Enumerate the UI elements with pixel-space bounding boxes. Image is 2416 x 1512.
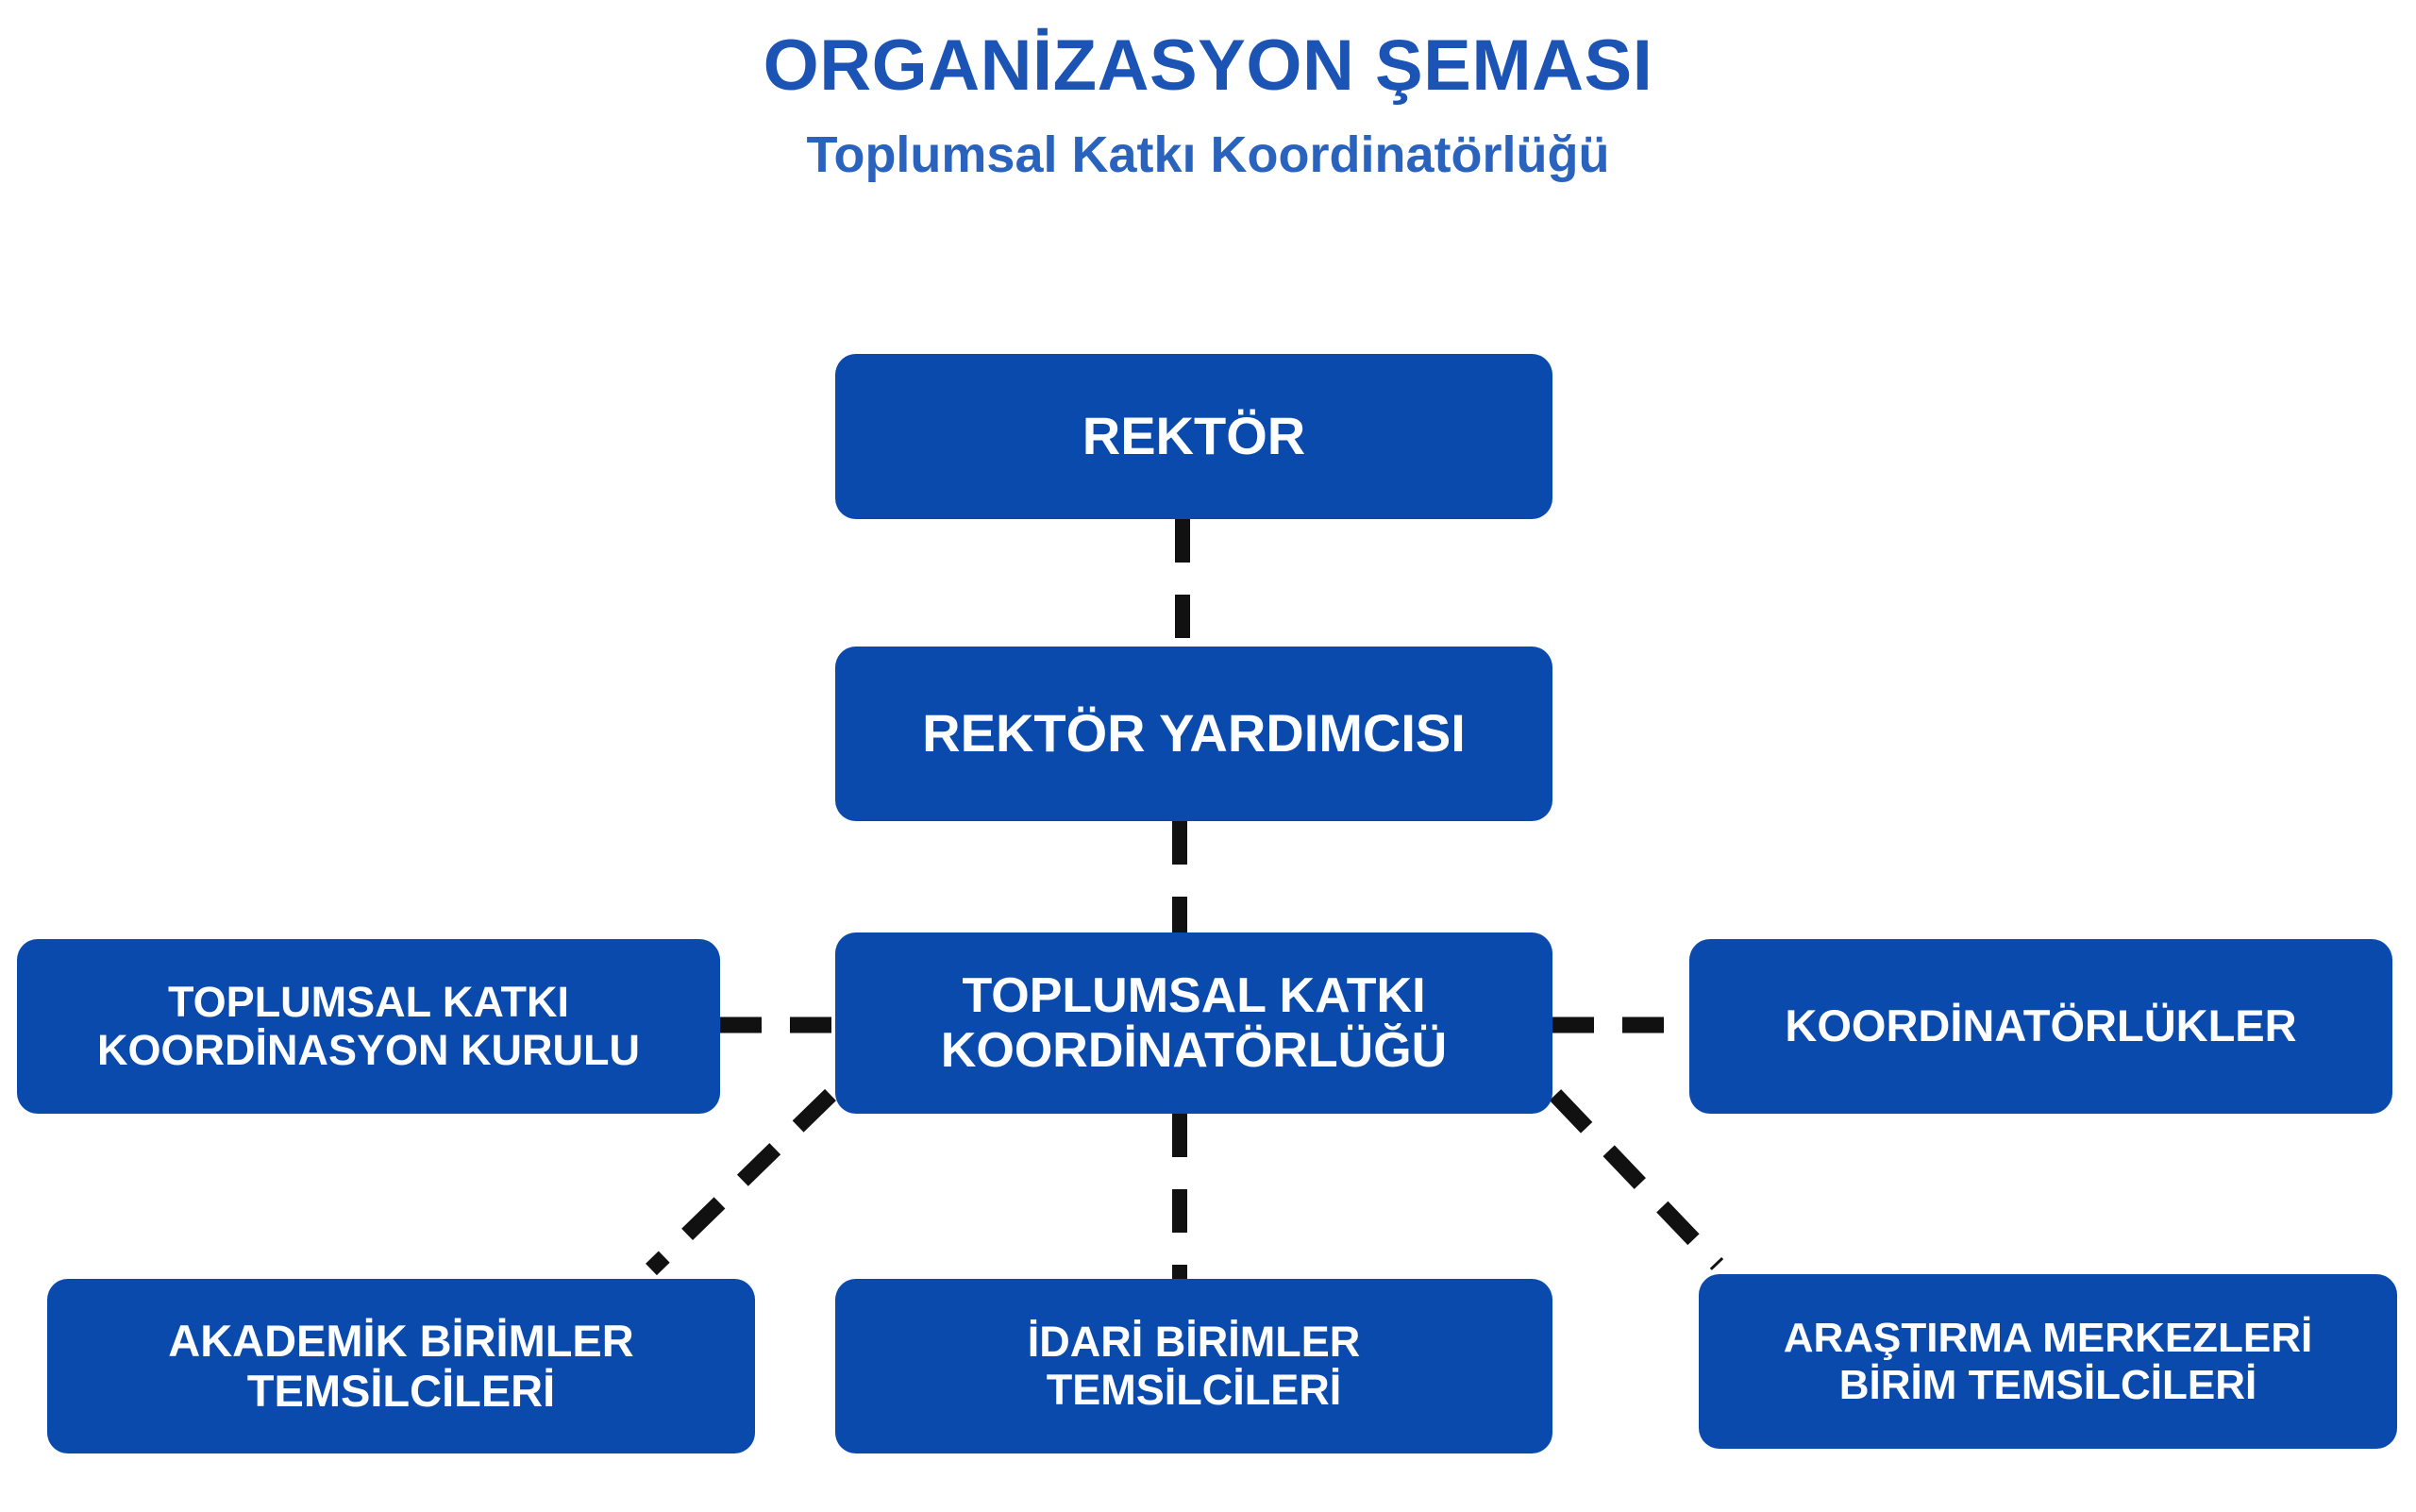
chart-title-block: ORGANİZASYON ŞEMASI Toplumsal Katkı Koor… [0,28,2416,181]
node-idari-label: İDARİ BİRİMLER TEMSİLCİLERİ [848,1319,1539,1414]
node-toplumsal-katki-koordinatorlugu[interactable]: TOPLUMSAL KATKI KOORDİNATÖRLÜĞÜ [835,932,1552,1114]
node-akademik-label: AKADEMİK BİRİMLER TEMSİLCİLERİ [60,1317,742,1416]
node-kurul-label: TOPLUMSAL KATKI KOORDİNASYON KURULU [30,979,707,1074]
page-title: ORGANİZASYON ŞEMASI [0,28,2416,104]
node-rektor-yardimcisi-label: REKTÖR YARDIMCISI [848,704,1539,764]
node-arastirma-label: ARAŞTIRMA MERKEZLERİ BİRİM TEMSİLCİLERİ [1712,1315,2384,1408]
organization-chart: ORGANİZASYON ŞEMASI Toplumsal Katkı Koor… [0,0,2416,1512]
node-arastirma-merkezleri-birim-temsilcileri[interactable]: ARAŞTIRMA MERKEZLERİ BİRİM TEMSİLCİLERİ [1699,1274,2397,1449]
edge-koordinatorluk-to-arastirma [1555,1095,1718,1265]
edge-koordinatorluk-to-akademik [651,1095,830,1269]
node-rektor-yardimcisi[interactable]: REKTÖR YARDIMCISI [835,647,1552,821]
node-rektor[interactable]: REKTÖR [835,354,1552,519]
node-koordinatorlukler-label: KOORDİNATÖRLÜKLER [1703,1001,2379,1051]
node-rektor-label: REKTÖR [848,407,1539,466]
node-koordinatorlukler[interactable]: KOORDİNATÖRLÜKLER [1689,939,2392,1114]
page-subtitle: Toplumsal Katkı Koordinatörlüğü [0,128,2416,182]
node-koordinatorluk-label: TOPLUMSAL KATKI KOORDİNATÖRLÜĞÜ [848,968,1539,1078]
node-idari-birimler-temsilcileri[interactable]: İDARİ BİRİMLER TEMSİLCİLERİ [835,1279,1552,1453]
node-akademik-birimler-temsilcileri[interactable]: AKADEMİK BİRİMLER TEMSİLCİLERİ [47,1279,755,1453]
node-toplumsal-katki-koordinasyon-kurulu[interactable]: TOPLUMSAL KATKI KOORDİNASYON KURULU [17,939,720,1114]
